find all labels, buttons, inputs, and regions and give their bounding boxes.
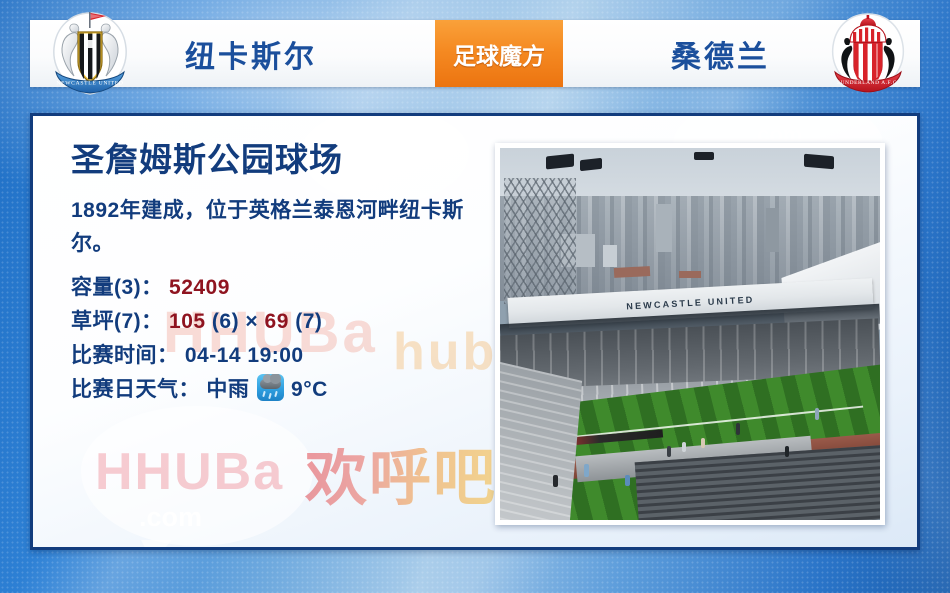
site-logo-label: 足球魔方 (453, 37, 545, 71)
photo-left-terrace (500, 362, 582, 520)
capacity-value: 52409 (169, 276, 230, 299)
svg-text:NEWCASTLE UNITED: NEWCASTLE UNITED (56, 81, 123, 87)
newcastle-united-crest[interactable]: NEWCASTLE UNITED (48, 10, 132, 96)
photo-building (603, 245, 617, 267)
watermark-bubble-3 (81, 406, 313, 546)
svg-text:SUNDERLAND A.F.C.: SUNDERLAND A.F.C. (837, 80, 899, 86)
pitch-dimension-separator: × (245, 310, 258, 333)
photo-spectator (667, 446, 671, 457)
photo-building (766, 208, 779, 253)
site-logo[interactable]: 足球魔方 (435, 20, 563, 87)
photo-floodlight-pylon (504, 178, 576, 304)
stadium-description: 1892年建成，位于英格兰泰恩河畔纽卡斯尔。 (71, 194, 491, 260)
pitch-label: 草坪(7)： (71, 310, 163, 333)
photo-spectator (701, 438, 705, 448)
weather-temperature: 9°C (291, 378, 328, 401)
stadium-info-panel: HUBa .com .com HHUBa .com 欢呼吧 HHUBa huba… (30, 113, 920, 550)
photo-red-roof (679, 271, 701, 278)
home-team-name: 纽卡斯尔 (185, 32, 317, 76)
photo-red-roof (614, 266, 650, 278)
photo-building (656, 204, 672, 252)
watermark-text-3: HHUBa (95, 446, 284, 498)
watermark-com-3: .com (139, 504, 202, 531)
pitch-length-value: 105 (169, 310, 206, 333)
photo-spectator (815, 408, 819, 420)
photo-spectator (584, 464, 589, 477)
pitch-width-note: (7) (295, 310, 322, 333)
away-team-name: 桑德兰 (671, 32, 770, 76)
weather-label: 比赛日天气： (71, 378, 200, 401)
photo-spectator (785, 446, 789, 457)
photo-spectator (736, 423, 740, 435)
kickoff-label: 比赛时间： (71, 344, 179, 367)
stadium-text-column: 圣詹姆斯公园球场 1892年建成，位于英格兰泰恩河畔纽卡斯尔。 容量(3)： 5… (71, 142, 491, 407)
kickoff-value: 04-14 19:00 (185, 344, 304, 367)
weather-value: 中雨 (206, 378, 249, 401)
app-root: 纽卡斯尔 足球魔方 桑德兰 (0, 0, 950, 593)
photo-spectator (553, 475, 558, 487)
info-row-kickoff: 比赛时间： 04-14 19:00 (71, 339, 491, 373)
info-row-capacity: 容量(3)： 52409 (71, 271, 491, 305)
photo-spectator (625, 475, 630, 486)
pitch-width-value: 69 (265, 310, 289, 333)
watermark-text-huhuba: 欢呼吧 (305, 448, 497, 510)
rain-cloud-icon (257, 374, 284, 401)
stadium-photo-frame[interactable]: NEWCASTLE UNITED (495, 143, 885, 525)
photo-speaker-box (694, 152, 714, 160)
info-row-weather: 比赛日天气： 中雨 9°C (71, 373, 491, 407)
photo-spectator (682, 442, 686, 452)
stadium-photo: NEWCASTLE UNITED (500, 148, 880, 520)
info-row-pitch: 草坪(7)： 105 (6) × 69 (7) (71, 305, 491, 339)
match-header-bar: 纽卡斯尔 足球魔方 桑德兰 (30, 20, 920, 87)
capacity-label: 容量(3)： (71, 276, 163, 299)
sunderland-afc-crest[interactable]: SUNDERLAND A.F.C. (826, 12, 910, 94)
stadium-title: 圣詹姆斯公园球场 (71, 142, 491, 178)
photo-stand-signage: NEWCASTLE UNITED (626, 294, 755, 311)
pitch-length-note: (6) (212, 310, 239, 333)
